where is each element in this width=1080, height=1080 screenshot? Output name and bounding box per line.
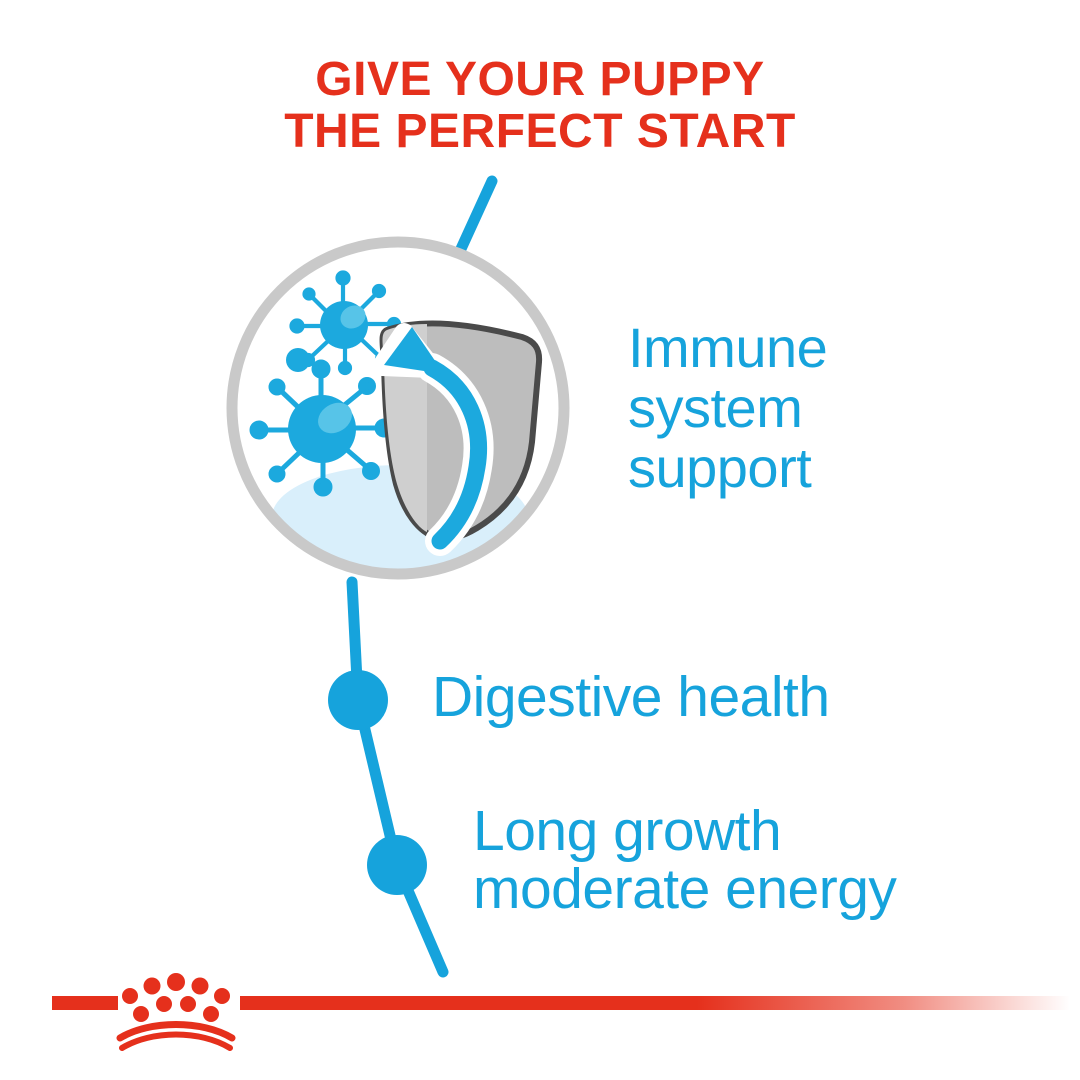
footer-rule-right	[240, 996, 1070, 1010]
connector-node-growth	[367, 835, 427, 895]
connector-node-digestive	[328, 670, 388, 730]
virus-dot-icon	[286, 348, 310, 372]
royal-canin-crown-logo	[120, 973, 232, 1048]
connector-line-middle	[358, 700, 397, 865]
benefit-immune-line-3: support	[628, 438, 1048, 498]
benefit-growth-line-1: Long growth	[473, 802, 1053, 860]
benefit-growth-line-2: moderate energy	[473, 860, 1053, 918]
connector-line-lower	[397, 865, 443, 972]
virus-particle-large	[252, 362, 391, 494]
benefit-digestive-line-1: Digestive health	[432, 666, 992, 728]
headline-line-1: GIVE YOUR PUPPY	[315, 53, 764, 106]
shield-virus-icon	[222, 232, 574, 584]
promo-canvas: GIVE YOUR PUPPY THE PERFECT START	[0, 0, 1080, 1080]
page-title: GIVE YOUR PUPPY THE PERFECT START	[0, 54, 1080, 158]
headline-line-2: THE PERFECT START	[0, 106, 1080, 158]
benefit-label-digestive: Digestive health	[432, 666, 992, 728]
brand-footer	[0, 960, 1080, 1080]
connector-line-upper	[352, 582, 358, 700]
benefit-label-immune: Immune system support	[628, 318, 1048, 498]
benefit-immune-line-1: Immune	[628, 318, 1048, 378]
benefit-label-growth: Long growth moderate energy	[473, 802, 1053, 918]
benefit-immune-line-2: system	[628, 378, 1048, 438]
footer-rule-left	[52, 996, 118, 1010]
